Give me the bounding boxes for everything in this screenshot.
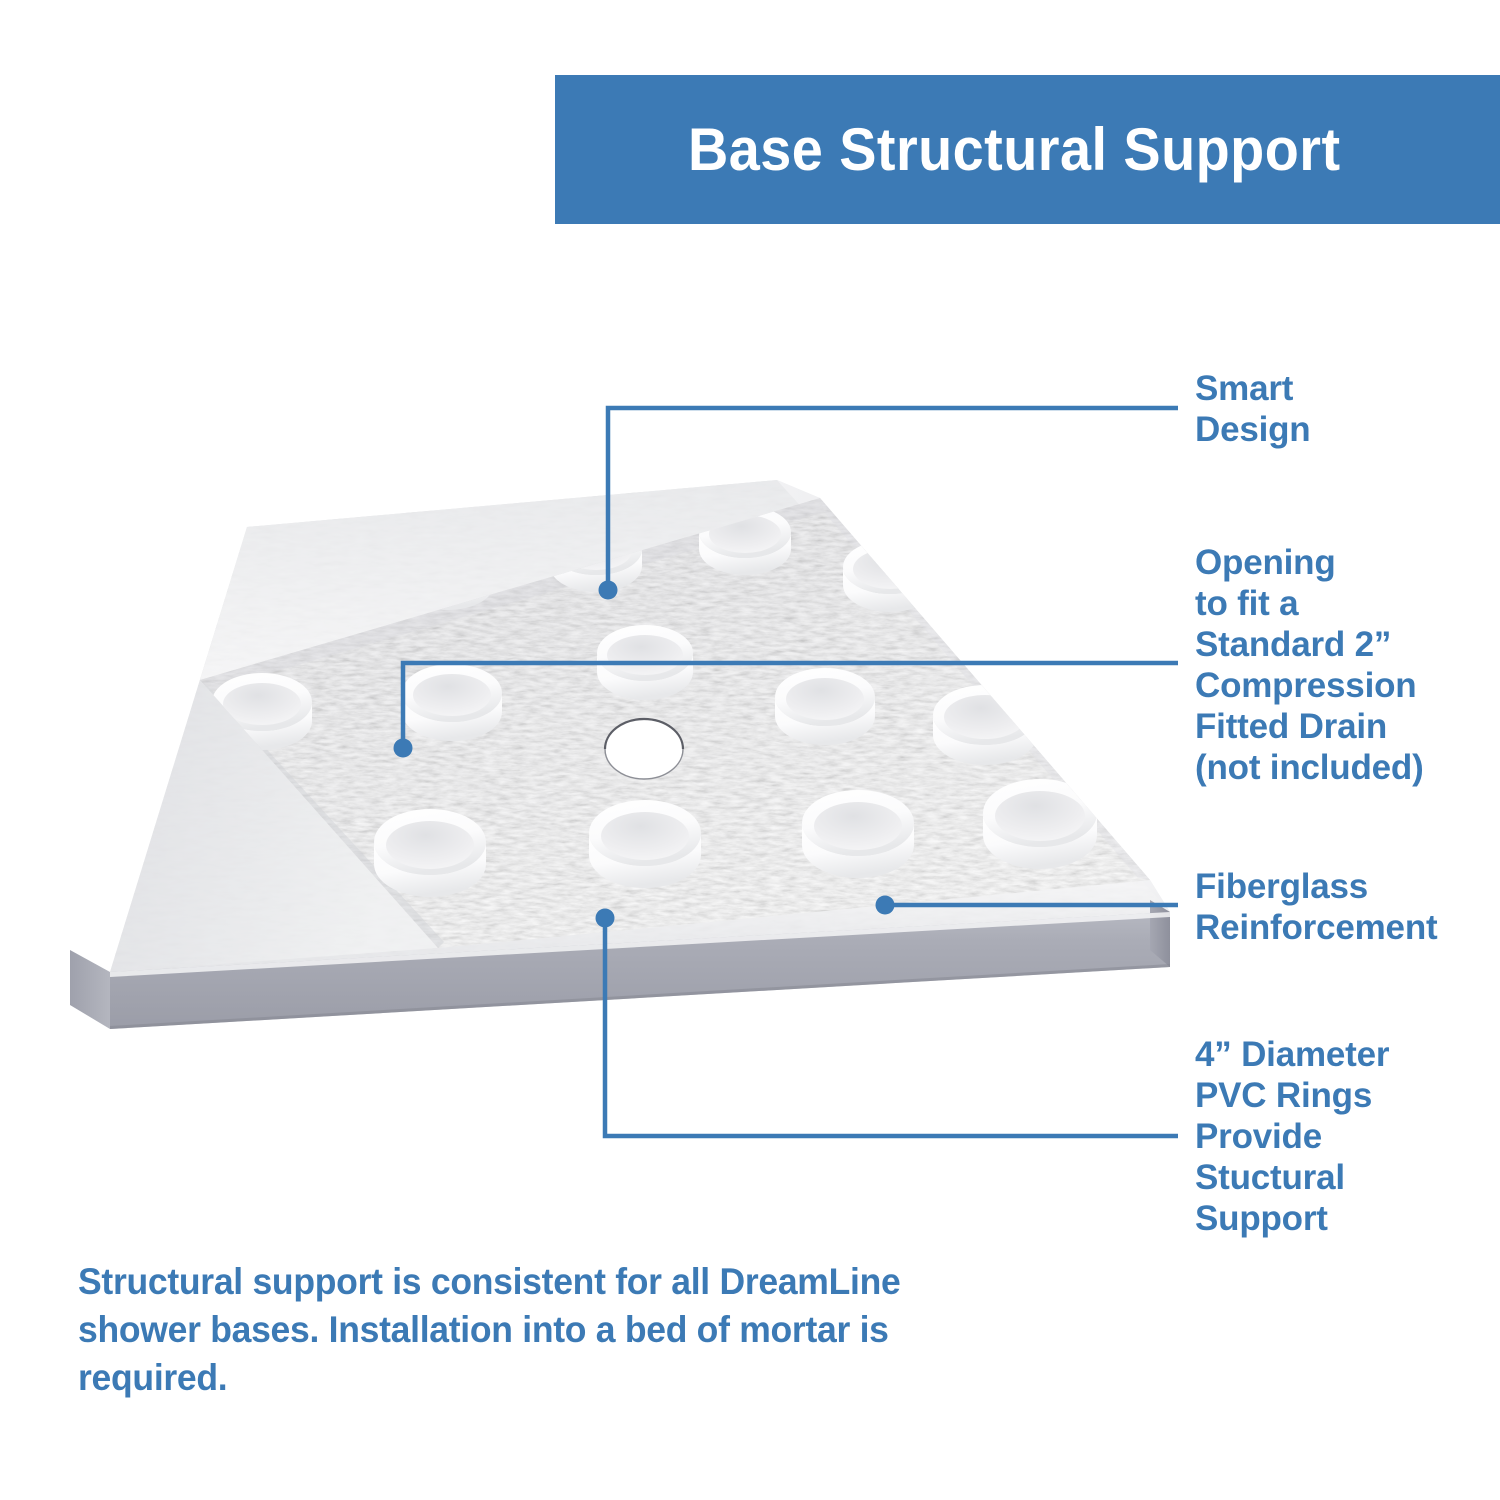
pvc-ring bbox=[775, 668, 875, 745]
callout-label-drain-opening: Opening to fit a Standard 2” Compression… bbox=[1195, 542, 1424, 788]
pvc-ring bbox=[802, 790, 914, 878]
page-title: Base Structural Support bbox=[688, 115, 1341, 184]
shower-base-illustration bbox=[40, 480, 1170, 1040]
callout-label-pvc-rings: 4” Diameter PVC Rings Provide Stuctural … bbox=[1195, 1034, 1389, 1239]
pvc-ring bbox=[402, 664, 502, 741]
pvc-ring bbox=[374, 809, 486, 897]
title-banner: Base Structural Support bbox=[555, 75, 1500, 224]
callout-label-fiberglass-reinforcement: Fiberglass Reinforcement bbox=[1195, 866, 1437, 948]
pvc-ring bbox=[589, 800, 701, 888]
pvc-ring bbox=[983, 779, 1097, 869]
pvc-ring bbox=[933, 685, 1037, 765]
drain-opening-hole bbox=[605, 719, 683, 779]
footer-caption: Structural support is consistent for all… bbox=[78, 1258, 1000, 1402]
pvc-ring bbox=[597, 625, 693, 700]
pvc-ring bbox=[843, 540, 937, 612]
callout-label-smart-design: Smart Design bbox=[1195, 368, 1311, 450]
diagram-canvas: Base Structural Support Smart Design Ope… bbox=[0, 0, 1500, 1500]
